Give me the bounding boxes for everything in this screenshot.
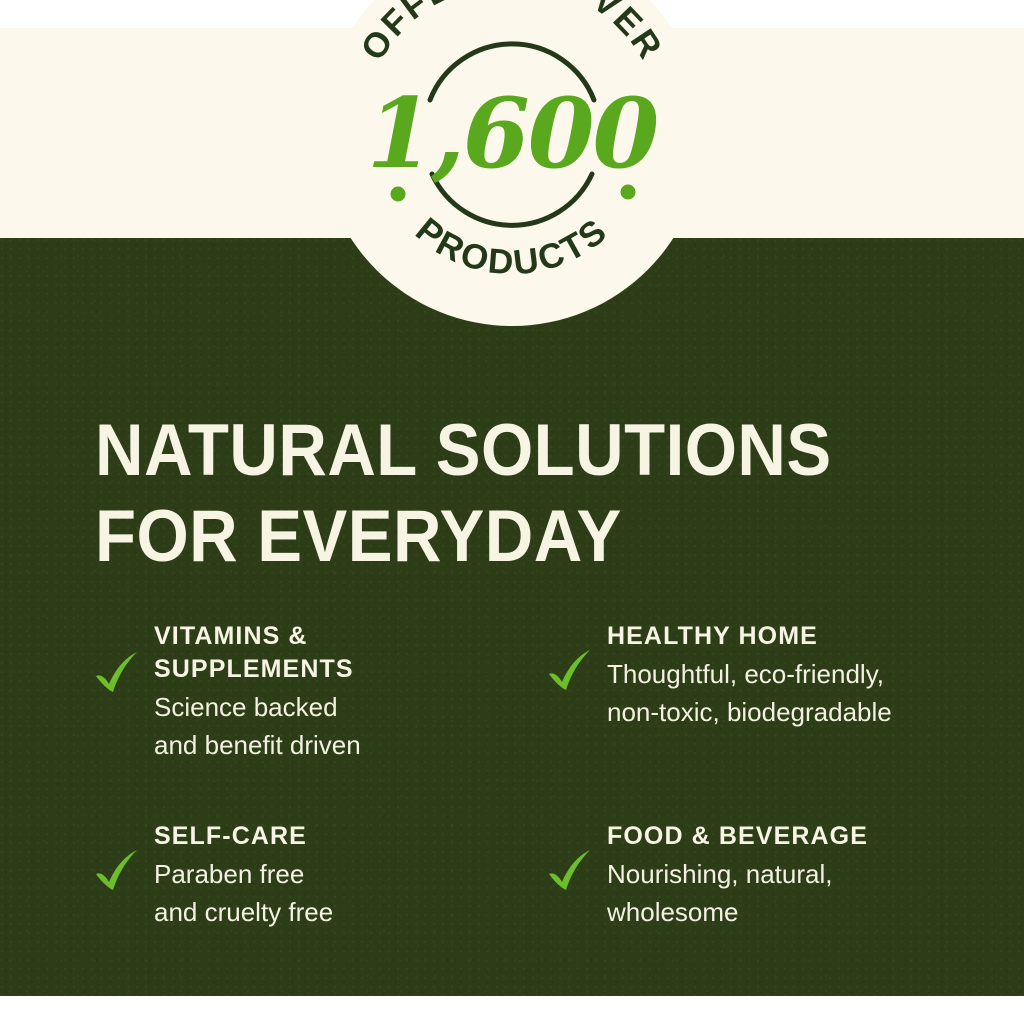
- badge-product-count: 1,600: [367, 77, 659, 190]
- feature-desc-line-1: Paraben free: [154, 855, 532, 893]
- feature-desc-line-1: Thoughtful, eco-friendly,: [607, 655, 1015, 693]
- check-icon: [545, 848, 593, 896]
- feature-title-line-2: SUPPLEMENTS: [154, 655, 354, 683]
- feature-text: FOOD & BEVERAGE Nourishing, natural, who…: [607, 820, 1015, 931]
- feature-title: SELF-CARE: [154, 820, 532, 853]
- feature-item-self-care: SELF-CARE Paraben free and cruelty free: [92, 820, 532, 931]
- feature-description: Thoughtful, eco-friendly, non-toxic, bio…: [607, 655, 1015, 731]
- feature-desc-line-2: non-toxic, biodegradable: [607, 693, 1015, 731]
- check-icon: [92, 650, 140, 698]
- feature-item-healthy-home: HEALTHY HOME Thoughtful, eco-friendly, n…: [545, 620, 1015, 731]
- feature-desc-line-2: and benefit driven: [154, 726, 532, 764]
- feature-desc-line-1: Science backed: [154, 688, 532, 726]
- headline-line-2: FOR EVERYDAY: [95, 494, 905, 580]
- feature-desc-line-1: Nourishing, natural,: [607, 855, 1015, 893]
- feature-desc-line-2: wholesome: [607, 893, 1015, 931]
- badge-top-arc-text: OFFERING OVER: [353, 0, 670, 67]
- promo-graphic: OFFERING OVER PRODUCTS 1,600 NATURAL SOL…: [0, 0, 1024, 1024]
- badge-bottom-arc-text: PRODUCTS: [408, 210, 615, 282]
- feature-item-vitamins-supplements: VITAMINS & SUPPLEMENTS Science backed an…: [92, 620, 532, 764]
- feature-description: Paraben free and cruelty free: [154, 855, 532, 931]
- page-title: NATURAL SOLUTIONS FOR EVERYDAY: [95, 408, 905, 580]
- feature-title: HEALTHY HOME: [607, 620, 1015, 653]
- feature-list: VITAMINS & SUPPLEMENTS Science backed an…: [0, 620, 1024, 980]
- offering-over-products-badge: OFFERING OVER PRODUCTS 1,600: [320, 0, 704, 326]
- feature-text: HEALTHY HOME Thoughtful, eco-friendly, n…: [607, 620, 1015, 731]
- feature-desc-line-2: and cruelty free: [154, 893, 532, 931]
- feature-title-line-1: VITAMINS &: [154, 622, 308, 650]
- feature-text: SELF-CARE Paraben free and cruelty free: [154, 820, 532, 931]
- headline-line-1: NATURAL SOLUTIONS: [95, 408, 905, 494]
- feature-item-food-beverage: FOOD & BEVERAGE Nourishing, natural, who…: [545, 820, 1015, 931]
- feature-description: Science backed and benefit driven: [154, 688, 532, 764]
- feature-text: VITAMINS & SUPPLEMENTS Science backed an…: [154, 620, 532, 764]
- check-icon: [92, 848, 140, 896]
- feature-description: Nourishing, natural, wholesome: [607, 855, 1015, 931]
- feature-title: VITAMINS & SUPPLEMENTS: [154, 620, 532, 686]
- check-icon: [545, 648, 593, 696]
- feature-title: FOOD & BEVERAGE: [607, 820, 1015, 853]
